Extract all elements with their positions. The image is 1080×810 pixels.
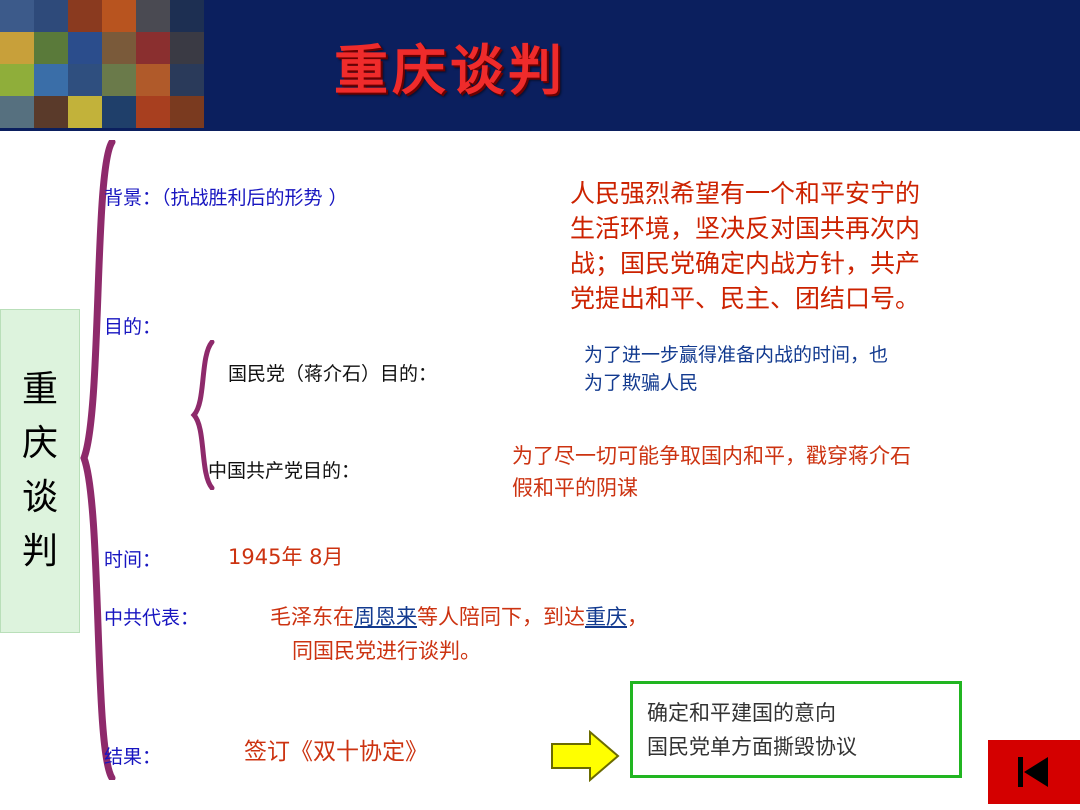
vertical-char-3: 谈 [22,471,58,525]
result-summary-box: 确定和平建国的意向 国民党单方面撕毁协议 [630,681,962,778]
delegate-text-part5: ， [627,605,648,629]
vertical-title-panel: 重 庆 谈 判 [0,309,80,633]
photo-cell [0,96,34,128]
ccp-purpose-text: 为了尽一切可能争取国内和平，戳穿蒋介石 假和平的阴谋 [512,440,911,504]
photo-cell [136,64,170,96]
photo-cell [34,64,68,96]
delegate-text-part3: 等人陪同下，到达 [417,605,585,629]
vertical-char-4: 判 [22,525,58,579]
time-text: 1945年 8月 [228,543,343,571]
title-area: 重庆谈判 [204,0,1080,131]
photo-cell [170,96,204,128]
vertical-char-1: 重 [22,363,58,417]
photo-cell [102,64,136,96]
photo-cell [68,64,102,96]
outer-brace-icon [80,140,120,780]
delegate-text-line2: 同国民党进行谈判。 [292,634,481,668]
photo-cell [68,96,102,128]
photo-cell [0,32,34,64]
photo-cell [170,0,204,32]
photo-cell [34,96,68,128]
photo-cell [102,32,136,64]
result-text: 签订《双十协定》 [244,738,428,766]
background-label: 背景：（抗战胜利后的形势 ） [104,183,348,210]
photo-collage [0,0,204,128]
photo-cell [0,0,34,32]
photo-cell [68,32,102,64]
delegate-text: 毛泽东在周恩来等人陪同下，到达重庆，同国民党进行谈判。 [270,600,648,668]
delegate-text-part1: 毛泽东在 [270,605,354,629]
result-box-line2: 国民党单方面撕毁协议 [647,730,959,764]
photo-cell [68,0,102,32]
photo-cell [136,32,170,64]
prev-triangle-icon [1014,755,1054,789]
page-title: 重庆谈判 [334,26,566,105]
photo-cell [0,64,34,96]
purpose-label: 目的： [104,312,161,339]
yellow-arrow-icon [550,730,620,782]
result-label: 结果： [104,742,161,769]
photo-cell [136,96,170,128]
header-banner: 重庆谈判 [0,0,1080,131]
vertical-char-2: 庆 [22,417,58,471]
photo-cell [170,32,204,64]
kmt-purpose-label: 国民党（蒋介石）目的： [228,359,437,386]
photo-cell [136,0,170,32]
chongqing-link[interactable]: 重庆 [585,605,627,629]
photo-cell [102,0,136,32]
photo-cell [34,0,68,32]
ccp-purpose-label: 中国共产党目的： [208,456,360,483]
prev-slide-button[interactable] [988,740,1080,804]
background-text: 人民强烈希望有一个和平安宁的 生活环境，坚决反对国共再次内 战；国民党确定内战方… [570,176,920,316]
time-label: 时间： [104,545,161,572]
kmt-purpose-text: 为了进一步赢得准备内战的时间，也 为了欺骗人民 [584,341,888,397]
zhou-enlai-link[interactable]: 周恩来 [354,605,417,629]
photo-cell [34,32,68,64]
photo-cell [102,96,136,128]
result-box-line1: 确定和平建国的意向 [647,696,959,730]
photo-cell [170,64,204,96]
delegate-label: 中共代表： [104,603,199,630]
